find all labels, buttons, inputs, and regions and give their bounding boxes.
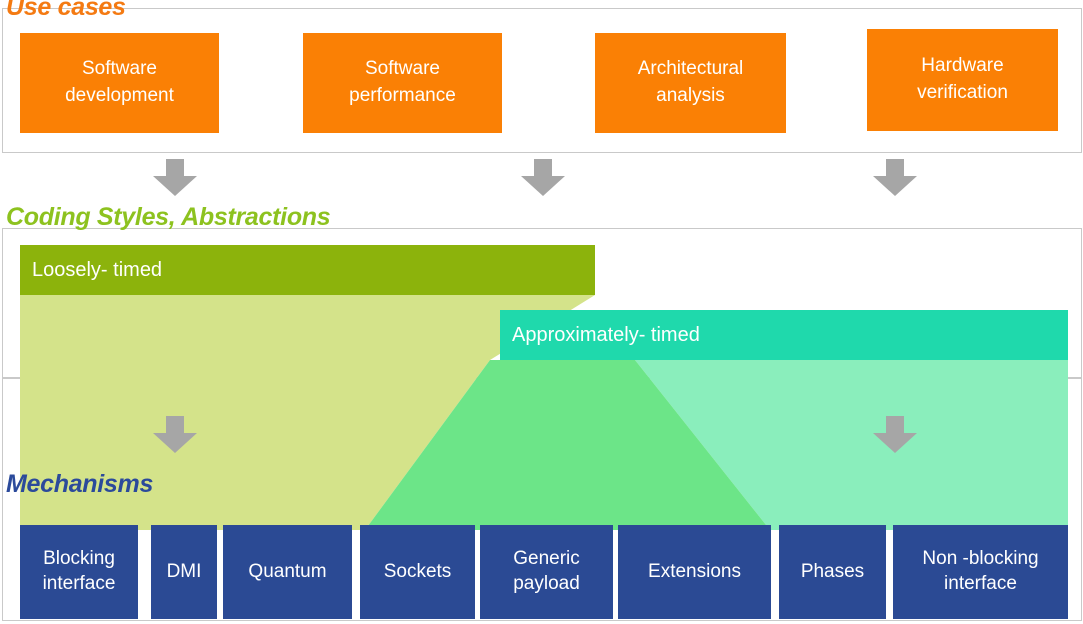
use-case-label-line1: Hardware (921, 55, 1003, 76)
mechanism-box-sockets[interactable]: Sockets (360, 525, 475, 619)
mechanism-label-line1: Extensions (648, 561, 741, 582)
use-case-label-line1: Software (365, 58, 440, 79)
heading-mechanisms: Mechanisms (6, 470, 153, 499)
style-bar-loosely-timed[interactable]: Loosely- timed (20, 245, 595, 295)
style-bar-label: Approximately- timed (512, 324, 700, 347)
use-case-box-hardware-verification[interactable]: Hardware verification (867, 29, 1058, 131)
mechanism-label: Non -blocking interface (922, 547, 1038, 596)
use-case-label: Software performance (349, 56, 456, 110)
use-case-label-line2: analysis (656, 85, 725, 106)
use-case-label-line2: verification (917, 82, 1008, 103)
style-bar-label: Loosely- timed (32, 259, 162, 282)
mechanism-label-line2: payload (513, 573, 580, 594)
mechanism-label: Phases (801, 560, 864, 585)
mechanism-label-line1: Sockets (384, 561, 452, 582)
mechanism-label: DMI (167, 560, 202, 585)
mechanism-label: Blocking interface (43, 547, 116, 596)
mechanism-box-dmi[interactable]: DMI (151, 525, 217, 619)
use-case-label-line1: Software (82, 58, 157, 79)
heading-use-cases: Use cases (6, 0, 126, 22)
mechanism-box-non-blocking-interface[interactable]: Non -blocking interface (893, 525, 1068, 619)
mechanism-box-quantum[interactable]: Quantum (223, 525, 352, 619)
use-case-label-line1: Architectural (638, 58, 744, 79)
arrow-down-icon-5 (873, 416, 917, 453)
use-case-box-architectural-analysis[interactable]: Architectural analysis (595, 33, 786, 133)
mechanism-label-line1: Non -blocking (922, 548, 1038, 569)
diagram-canvas: Use cases Coding Styles, Abstractions Me… (0, 0, 1083, 624)
use-case-label: Software development (65, 56, 174, 110)
use-case-label-line2: development (65, 85, 174, 106)
mechanism-label-line1: Quantum (248, 561, 326, 582)
arrow-down-icon-3 (873, 159, 917, 196)
mechanism-label-line2: interface (43, 573, 116, 594)
mechanism-label-line1: DMI (167, 561, 202, 582)
use-case-label-line2: performance (349, 85, 456, 106)
mechanism-box-blocking-interface[interactable]: Blocking interface (20, 525, 138, 619)
arrow-down-icon-4 (153, 416, 197, 453)
use-case-label: Hardware verification (917, 53, 1008, 107)
mechanism-box-phases[interactable]: Phases (779, 525, 886, 619)
arrow-down-icon-2 (521, 159, 565, 196)
style-bar-approximately-timed[interactable]: Approximately- timed (500, 310, 1068, 360)
use-case-label: Architectural analysis (638, 56, 744, 110)
mechanism-label: Sockets (384, 560, 452, 585)
mechanism-label: Quantum (248, 560, 326, 585)
mechanism-label-line2: interface (944, 573, 1017, 594)
mechanism-box-extensions[interactable]: Extensions (618, 525, 771, 619)
use-case-box-software-development[interactable]: Software development (20, 33, 219, 133)
arrow-down-icon-1 (153, 159, 197, 196)
use-case-box-software-performance[interactable]: Software performance (303, 33, 502, 133)
mechanism-label-line1: Generic (513, 548, 580, 569)
mechanism-label-line1: Phases (801, 561, 864, 582)
mechanism-label-line1: Blocking (43, 548, 115, 569)
heading-coding-styles: Coding Styles, Abstractions (6, 203, 330, 232)
mechanism-box-generic-payload[interactable]: Generic payload (480, 525, 613, 619)
mechanism-label: Extensions (648, 560, 741, 585)
mechanism-label: Generic payload (513, 547, 580, 596)
